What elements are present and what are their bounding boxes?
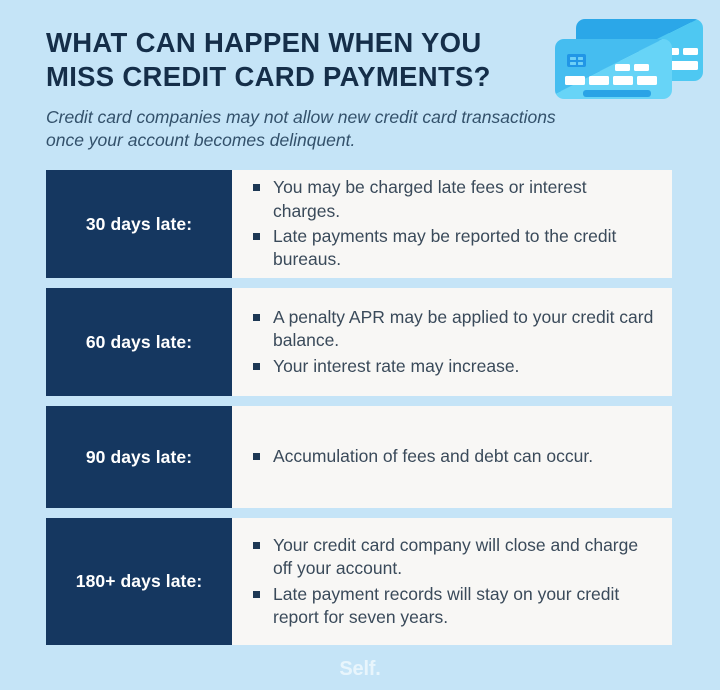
bullet-square-icon xyxy=(253,591,260,598)
row-body-cell: Accumulation of fees and debt can occur. xyxy=(232,406,672,508)
list-item: Your interest rate may increase. xyxy=(252,355,656,378)
list-item-text: Late payment records will stay on your c… xyxy=(273,584,619,627)
row-label-cell: 30 days late: xyxy=(46,170,232,278)
row-label-text: 30 days late: xyxy=(86,214,192,235)
bullet-square-icon xyxy=(253,542,260,549)
card-front xyxy=(555,39,672,99)
infographic-canvas: WHAT CAN HAPPEN WHEN YOU MISS CREDIT CAR… xyxy=(0,0,720,690)
bullet-square-icon xyxy=(253,233,260,240)
bullet-list: Accumulation of fees and debt can occur. xyxy=(252,445,656,468)
page-title: WHAT CAN HAPPEN WHEN YOU MISS CREDIT CAR… xyxy=(46,26,556,95)
credit-cards-svg xyxy=(553,17,709,113)
row-label-text: 60 days late: xyxy=(86,332,192,353)
list-item-text: Late payments may be reported to the cre… xyxy=(273,226,616,269)
table-row: 90 days late: Accumulation of fees and d… xyxy=(46,406,672,508)
credit-cards-icon xyxy=(553,17,709,113)
row-label-text: 90 days late: xyxy=(86,447,192,468)
table-row: 60 days late: A penalty APR may be appli… xyxy=(46,288,672,396)
list-item: A penalty APR may be applied to your cre… xyxy=(252,306,656,353)
list-item: You may be charged late fees or interest… xyxy=(252,176,656,223)
bullet-square-icon xyxy=(253,184,260,191)
bullet-square-icon xyxy=(253,314,260,321)
row-label-cell: 90 days late: xyxy=(46,406,232,508)
list-item-text: Your interest rate may increase. xyxy=(273,356,519,376)
footer: Self. xyxy=(0,648,720,690)
list-item: Late payments may be reported to the cre… xyxy=(252,225,656,272)
bullet-square-icon xyxy=(253,363,260,370)
page-subtitle: Credit card companies may not allow new … xyxy=(46,106,576,153)
bullet-list: A penalty APR may be applied to your cre… xyxy=(252,306,656,378)
bullet-square-icon xyxy=(253,453,260,460)
list-item: Your credit card company will close and … xyxy=(252,534,656,581)
row-body-cell: Your credit card company will close and … xyxy=(232,518,672,645)
timeline-rows: 30 days late: You may be charged late fe… xyxy=(46,170,672,645)
list-item-text: Accumulation of fees and debt can occur. xyxy=(273,446,593,466)
list-item-text: Your credit card company will close and … xyxy=(273,535,638,578)
bullet-list: You may be charged late fees or interest… xyxy=(252,176,656,271)
list-item: Accumulation of fees and debt can occur. xyxy=(252,445,656,468)
list-item: Late payment records will stay on your c… xyxy=(252,583,656,630)
table-row: 180+ days late: Your credit card company… xyxy=(46,518,672,645)
row-label-cell: 60 days late: xyxy=(46,288,232,396)
row-body-cell: You may be charged late fees or interest… xyxy=(232,170,672,278)
row-body-cell: A penalty APR may be applied to your cre… xyxy=(232,288,672,396)
list-item-text: You may be charged late fees or interest… xyxy=(273,177,587,220)
bullet-list: Your credit card company will close and … xyxy=(252,534,656,629)
list-item-text: A penalty APR may be applied to your cre… xyxy=(273,307,653,350)
row-label-text: 180+ days late: xyxy=(76,571,203,592)
row-label-cell: 180+ days late: xyxy=(46,518,232,645)
table-row: 30 days late: You may be charged late fe… xyxy=(46,170,672,278)
brand-logo: Self. xyxy=(339,658,380,681)
